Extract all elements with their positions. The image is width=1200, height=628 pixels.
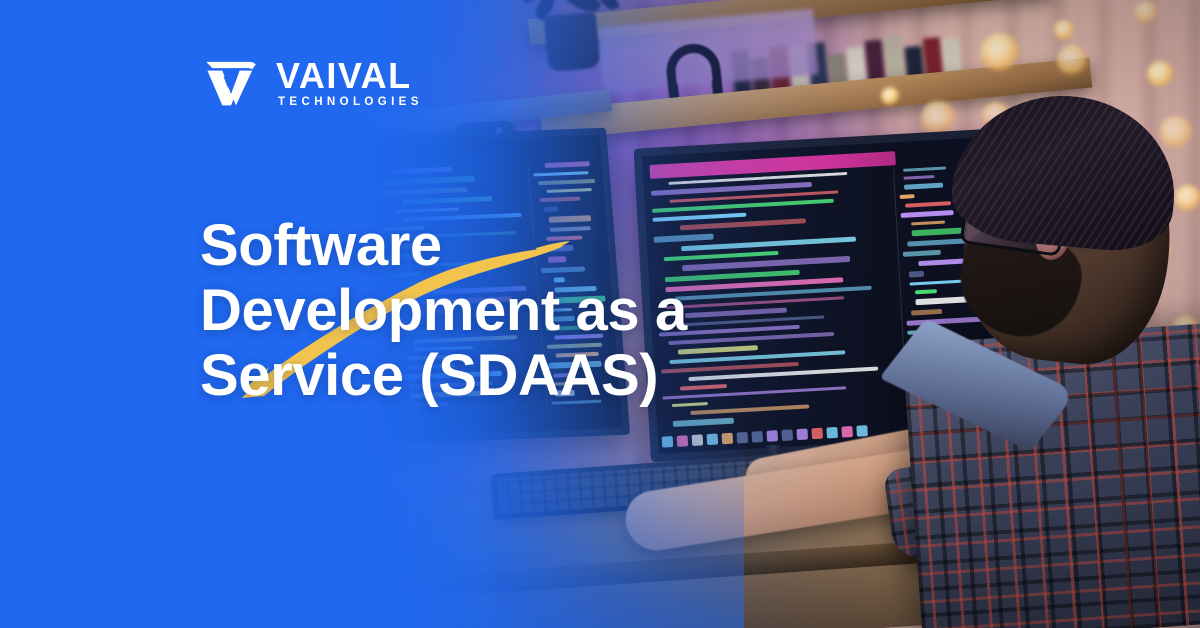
headline-line-2: Development as a — [200, 279, 687, 344]
logo-tagline: TECHNOLOGIES — [276, 97, 423, 109]
headline-line-3: Service (SDAAS) — [200, 344, 687, 409]
logo-wordmark: VAIVAL — [276, 58, 423, 94]
page-title: Software Development as a Service (SDAAS… — [200, 214, 687, 409]
promo-banner: VAIVAL TECHNOLOGIES Software Development… — [0, 0, 1200, 628]
vaival-v-triangle-mark — [200, 52, 262, 114]
headline-line-1: Software — [200, 214, 687, 279]
brand-logo[interactable]: VAIVAL TECHNOLOGIES — [200, 52, 423, 114]
